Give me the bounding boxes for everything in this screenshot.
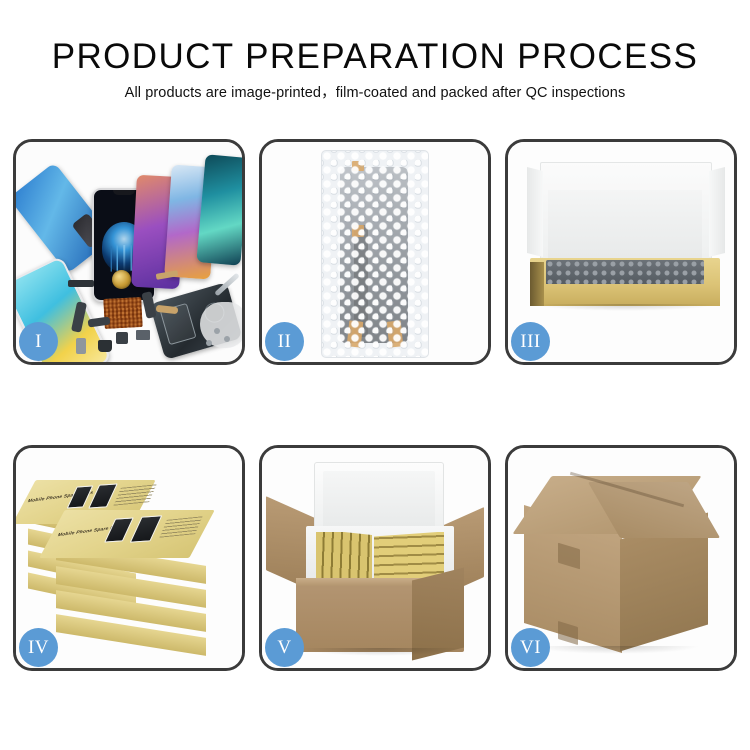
process-step-card-6: VI	[505, 445, 737, 671]
bubble-texture-front	[322, 151, 428, 357]
process-step-card-5: V	[259, 445, 491, 671]
logic-board-part	[103, 297, 143, 329]
boxes-group-left	[316, 532, 372, 582]
small-module-part	[136, 330, 150, 340]
gold-coil-part	[112, 270, 131, 289]
header: PRODUCT PREPARATION PROCESS All products…	[0, 38, 750, 102]
top-box-front: Mobile Phone Spare Parts	[52, 510, 202, 558]
drop-shadow	[300, 648, 462, 656]
box-side-panel	[530, 262, 544, 306]
box-interior	[548, 190, 702, 264]
step-badge-1: I	[19, 322, 58, 361]
screw-part	[206, 340, 212, 346]
process-step-card-3: III	[505, 139, 737, 365]
phone-notch	[113, 190, 135, 195]
small-module-part	[76, 338, 86, 354]
step-badge-3: III	[511, 322, 550, 361]
drop-shadow	[532, 646, 700, 654]
packed-boxes	[316, 532, 444, 582]
box-stack: Mobile Phone Spare Parts Mobile Phone Sp…	[22, 458, 236, 658]
box-front-panel	[530, 284, 720, 306]
process-step-card-4: Mobile Phone Spare Parts Mobile Phone Sp…	[13, 445, 245, 671]
screw-part	[224, 336, 230, 342]
step-badge-6: VI	[511, 628, 550, 667]
process-steps-grid: I II	[13, 139, 737, 671]
process-step-card-1: I	[13, 139, 245, 365]
product-preparation-infographic: PRODUCT PREPARATION PROCESS All products…	[0, 0, 750, 750]
page-title: PRODUCT PREPARATION PROCESS	[0, 38, 750, 76]
small-module-part	[98, 340, 112, 352]
carton-side-panel	[412, 568, 464, 661]
step-badge-5: V	[265, 628, 304, 667]
page-subtitle: All products are image-printed，film-coat…	[0, 84, 750, 102]
process-step-card-2: II	[259, 139, 491, 365]
screw-part	[214, 328, 220, 334]
drop-shadow	[532, 304, 718, 311]
box-spec-lines	[113, 484, 156, 505]
spare-part-bar	[68, 280, 94, 287]
bubble-wrap-pouch	[321, 150, 429, 358]
step-badge-4: IV	[19, 628, 58, 667]
step-badge-2: II	[265, 322, 304, 361]
small-module-part	[116, 332, 128, 344]
